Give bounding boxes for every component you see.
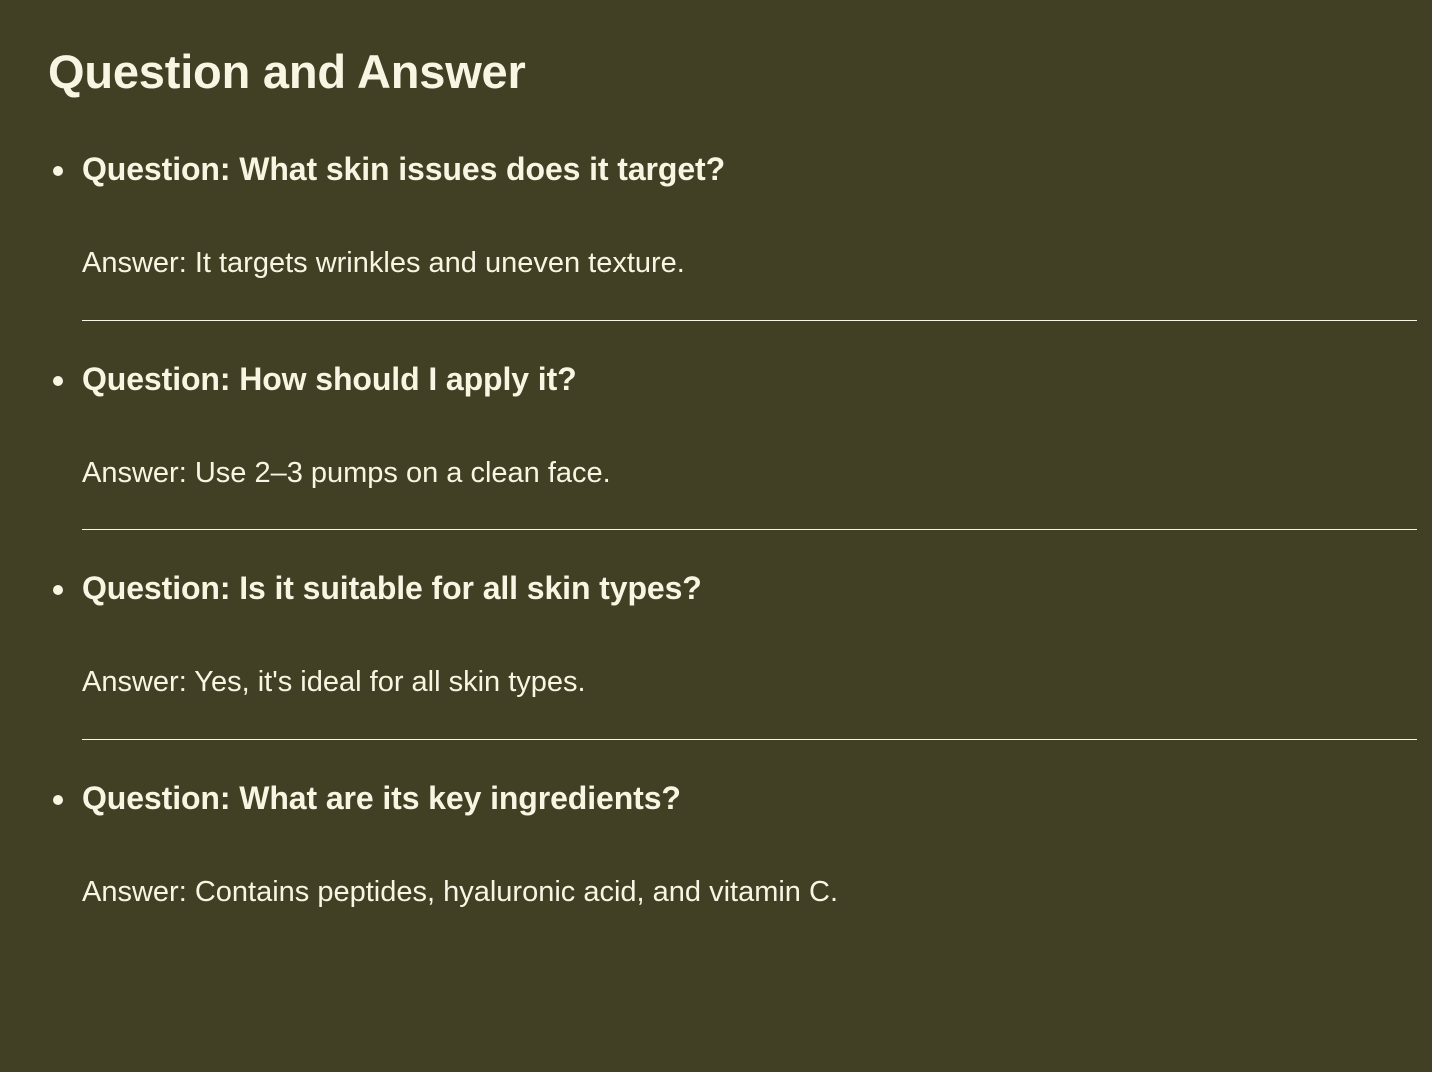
qa-divider <box>82 320 1417 321</box>
page-title: Question and Answer <box>48 0 1383 95</box>
bullet-icon <box>53 376 63 386</box>
qa-item: Question: What skin issues does it targe… <box>48 149 1383 321</box>
bullet-icon <box>53 166 63 176</box>
bullet-icon <box>53 795 63 805</box>
qa-item: Question: What are its key ingredients? … <box>48 778 1383 912</box>
qa-question: Question: What are its key ingredients? <box>82 778 1383 818</box>
qa-question: Question: Is it suitable for all skin ty… <box>82 568 1383 608</box>
bullet-icon <box>53 585 63 595</box>
qa-item: Question: Is it suitable for all skin ty… <box>48 568 1383 740</box>
qa-divider <box>82 739 1417 740</box>
qa-page: Question and Answer Question: What skin … <box>0 0 1432 1072</box>
qa-question: Question: How should I apply it? <box>82 359 1383 399</box>
qa-question: Question: What skin issues does it targe… <box>82 149 1383 189</box>
qa-divider <box>82 529 1417 530</box>
qa-answer: Answer: Use 2–3 pumps on a clean face. <box>82 399 1383 493</box>
qa-answer: Answer: Yes, it's ideal for all skin typ… <box>82 608 1383 702</box>
qa-answer: Answer: It targets wrinkles and uneven t… <box>82 189 1383 283</box>
qa-list: Question: What skin issues does it targe… <box>48 149 1383 912</box>
qa-item: Question: How should I apply it? Answer:… <box>48 359 1383 531</box>
qa-answer: Answer: Contains peptides, hyaluronic ac… <box>82 818 1383 912</box>
